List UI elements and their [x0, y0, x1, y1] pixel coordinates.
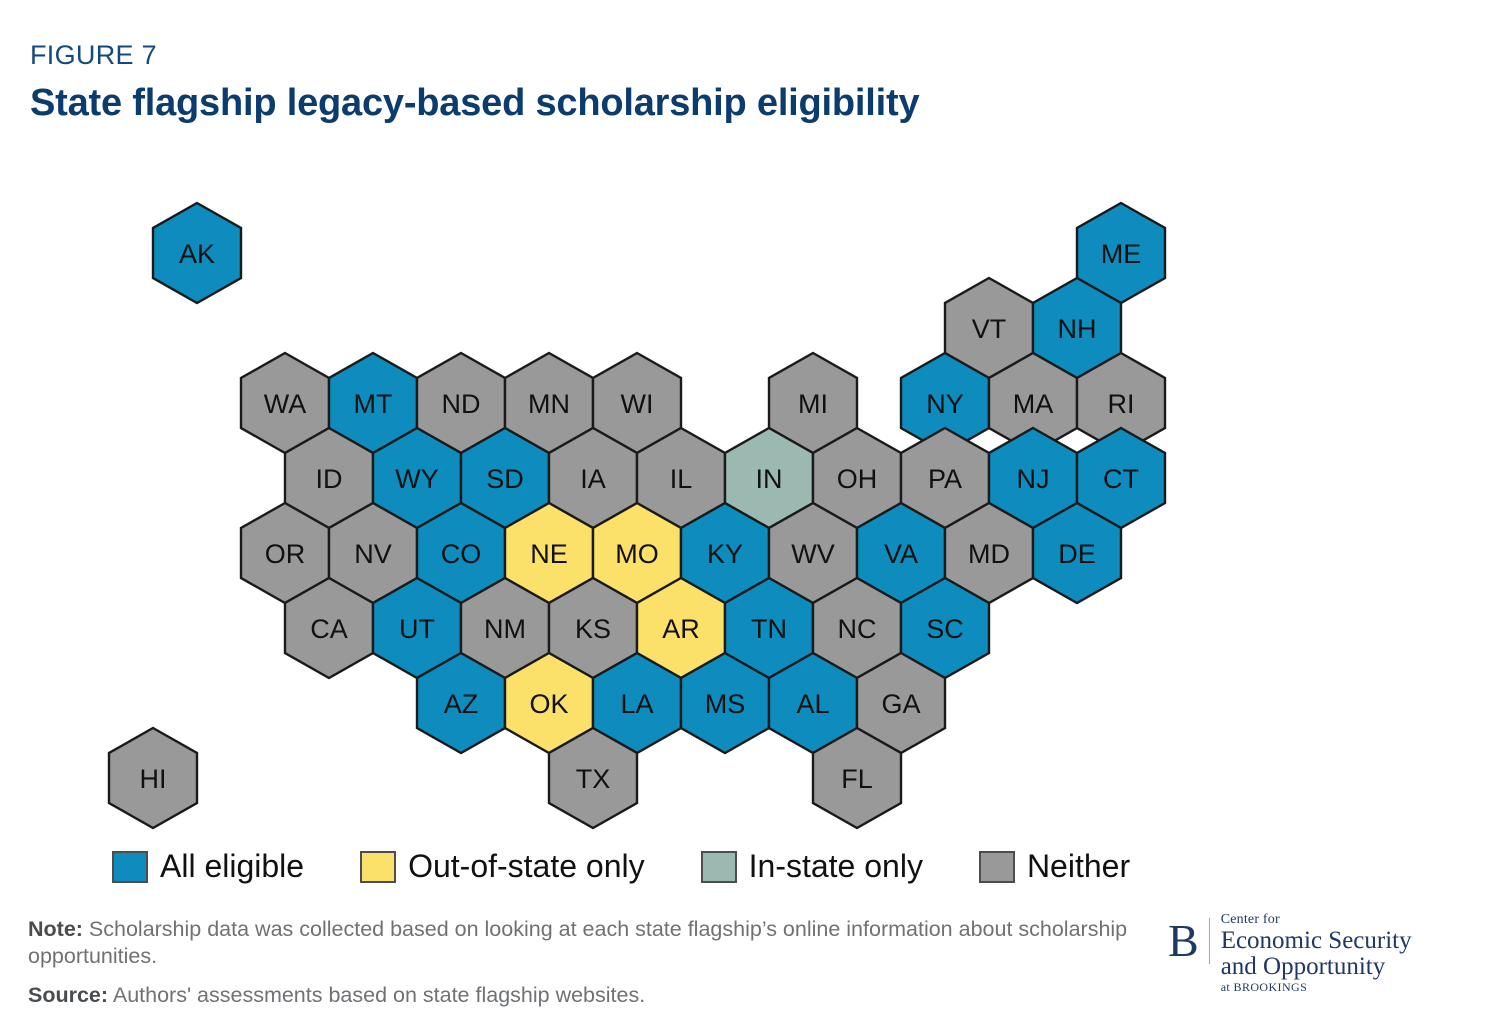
legend-label: All eligible	[160, 848, 304, 885]
note-text: Scholarship data was collected based on …	[28, 917, 1127, 968]
hex-shape-hi	[109, 728, 197, 828]
legend-item-neither[interactable]: Neither	[979, 848, 1130, 885]
hexmap-svg: AKMEVTNHWAMTNDMNWIMINYMARIIDWYSDIAILINOH…	[0, 160, 1500, 840]
legend-swatch-all-eligible	[112, 851, 148, 883]
logo-line-center-for: Center for	[1221, 912, 1412, 928]
hex-cartogram: AKMEVTNHWAMTNDMNWIMINYMARIIDWYSDIAILINOH…	[0, 160, 1500, 840]
legend-swatch-in-state-only	[701, 851, 737, 883]
legend-label: Neither	[1027, 848, 1130, 885]
legend-item-out-of-state-only[interactable]: Out-of-state only	[360, 848, 645, 885]
logo-line-economic-security: Economic Security	[1221, 928, 1412, 954]
legend-item-all-eligible[interactable]: All eligible	[112, 848, 304, 885]
footnotes: Note: Scholarship data was collected bas…	[28, 916, 1138, 1009]
logo-line-and-opportunity: and Opportunity	[1221, 954, 1412, 980]
page-title: State flagship legacy-based scholarship …	[30, 82, 919, 125]
source-label: Source:	[28, 983, 108, 1007]
legend-label: Out-of-state only	[408, 848, 645, 885]
brookings-logo: B Center for Economic Security and Oppor…	[1168, 912, 1412, 995]
legend-swatch-out-of-state-only	[360, 851, 396, 883]
hex-shape-ak	[153, 203, 241, 303]
note-line: Note: Scholarship data was collected bas…	[28, 916, 1138, 970]
source-line: Source: Authors' assessments based on st…	[28, 982, 1138, 1009]
logo-line-at-brookings: at BROOKINGS	[1221, 980, 1412, 995]
legend-label: In-state only	[749, 848, 923, 885]
brookings-b-mark: B	[1168, 918, 1210, 964]
legend-item-in-state-only[interactable]: In-state only	[701, 848, 923, 885]
legend: All eligibleOut-of-state onlyIn-state on…	[0, 848, 1260, 885]
source-text: Authors' assessments based on state flag…	[108, 983, 645, 1007]
hex-state-ak[interactable]: AK	[153, 203, 241, 303]
hex-state-hi[interactable]: HI	[109, 728, 197, 828]
figure-label: FIGURE 7	[30, 40, 157, 71]
note-label: Note:	[28, 917, 83, 941]
legend-swatch-neither	[979, 851, 1015, 883]
